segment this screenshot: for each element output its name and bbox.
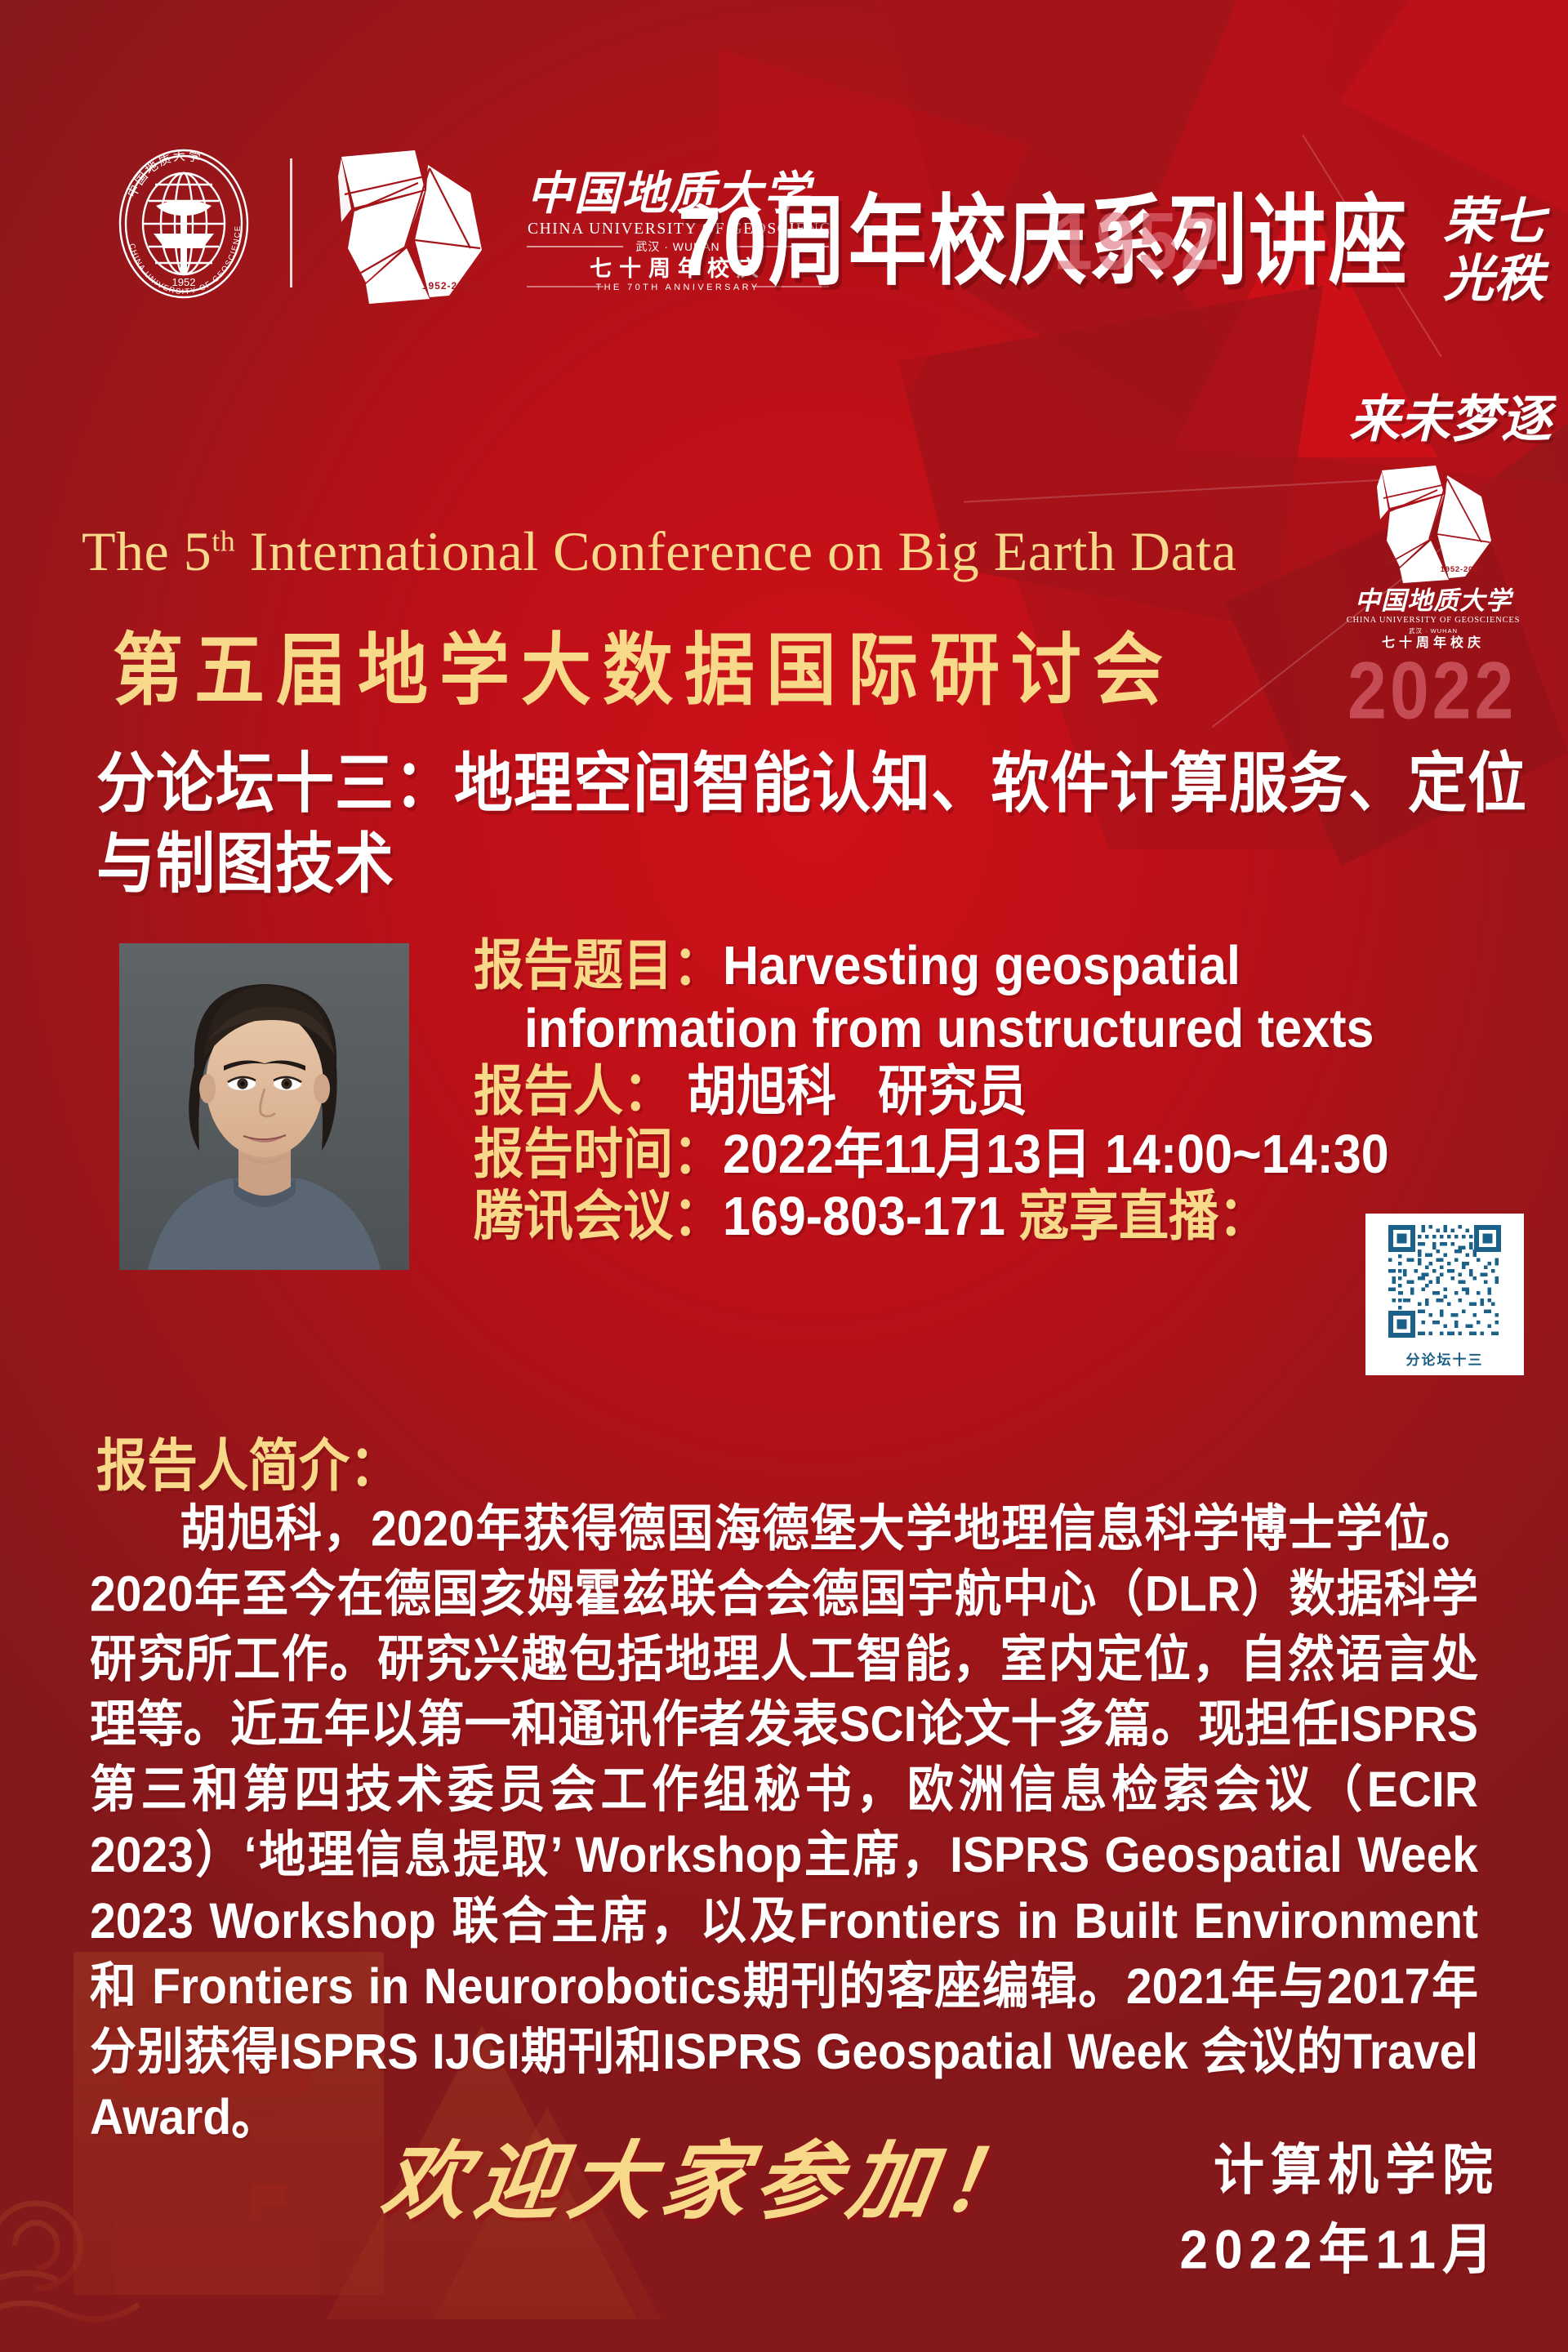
organizer-block: 计算机学院 2022年11月 — [1180, 2131, 1499, 2290]
calligraphy-seven-decades: 七秩荣光 — [1437, 194, 1539, 327]
talk-title-line2: information from unstructured texts — [524, 997, 1374, 1058]
conference-title-cn: 第五届地学大数据国际研讨会 — [113, 606, 1174, 720]
conference-title-en-rest: International Conference on Big Earth Da… — [235, 520, 1236, 582]
time-row: 报告时间：2022年11月13日 14:00~14:30 — [474, 1120, 1568, 1189]
time-label: 报告时间： — [474, 1123, 723, 1184]
bio-text: 胡旭科，2020年获得德国海德堡大学地理信息科学博士学位。2020年至今在德国亥… — [90, 1496, 1478, 2149]
organizer-date: 2022年11月 — [1180, 2211, 1499, 2290]
livestream-qr-code[interactable]: 分论坛十三 — [1365, 1214, 1524, 1375]
talk-info-block: 报告题目：Harvesting geospatial information f… — [474, 931, 1568, 1245]
anniversary-70-logo: 1952-2022 — [327, 144, 506, 307]
speaker-row: 报告人： 胡旭科 研究员 — [474, 1057, 1568, 1126]
poster-header: 中国地质大学 CHINA UNIVERSITY OF GEOSCIENCES 1… — [0, 122, 1568, 327]
cug-seal-logo: 中国地质大学 CHINA UNIVERSITY OF GEOSCIENCES 1… — [106, 145, 261, 302]
poster-canvas: 中国地质大学 CHINA UNIVERSITY OF GEOSCIENCES 1… — [0, 0, 1568, 2352]
organizer-name: 计算机学院 — [1180, 2131, 1499, 2211]
conference-title-en: The 5th International Conference on Big … — [82, 519, 1356, 584]
logo-divider — [290, 158, 292, 287]
talk-title-row-2: information from unstructured texts — [474, 994, 1568, 1063]
svg-text:1952-2022: 1952-2022 — [1441, 565, 1484, 574]
svg-text:中国地质大学: 中国地质大学 — [1355, 586, 1514, 615]
qr-code-image[interactable] — [1372, 1220, 1517, 1343]
conference-title-en-prefix: The 5 — [82, 520, 212, 582]
conference-title-en-ordinal: th — [212, 524, 235, 557]
meeting-id: 169-803-171 — [723, 1186, 1005, 1247]
speaker-rank: 研究员 — [878, 1060, 1027, 1121]
year-2022-label: 2022 — [1347, 645, 1517, 738]
talk-title-line1: Harvesting geospatial — [723, 934, 1241, 996]
calligraphy-chase-dream: 逐梦未来 — [1343, 392, 1546, 449]
bio-heading: 报告人简介： — [96, 1419, 400, 1502]
speaker-portrait-image — [119, 943, 409, 1270]
talk-title-label: 报告题目： — [474, 934, 723, 996]
svg-text:1952-2022: 1952-2022 — [422, 280, 476, 292]
welcome-message: 欢迎大家参加！ — [375, 2112, 1044, 2235]
talk-title-row-1: 报告题目：Harvesting geospatial — [474, 931, 1568, 1000]
time-value: 2022年11月13日 14:00~14:30 — [723, 1123, 1389, 1184]
svg-text:武汉 · WUHAN: 武汉 · WUHAN — [1409, 626, 1458, 635]
year-1952-label: 1952 — [1053, 196, 1223, 289]
background-line — [964, 479, 1388, 502]
meeting-label: 腾讯会议： — [474, 1186, 723, 1247]
live-label: 寇享直播： — [1019, 1186, 1268, 1247]
anniversary-badge-logo: 1952-2022 中国地质大学 CHINA UNIVERSITY OF GEO… — [1339, 457, 1527, 653]
lecture-series-title: 70周年校庆系列讲座 — [678, 162, 1409, 304]
speaker-portrait — [119, 943, 409, 1270]
qr-code-caption: 分论坛十三 — [1372, 1348, 1517, 1369]
svg-text:CHINA UNIVERSITY OF GEOSCIENCE: CHINA UNIVERSITY OF GEOSCIENCES — [1347, 616, 1521, 625]
forum-subtitle: 分论坛十三：地理空间智能认知、软件计算服务、定位与制图技术 — [96, 745, 1558, 906]
svg-text:1952: 1952 — [172, 276, 196, 288]
speaker-label: 报告人： — [474, 1060, 673, 1121]
speaker-name: 胡旭科 — [687, 1060, 836, 1121]
